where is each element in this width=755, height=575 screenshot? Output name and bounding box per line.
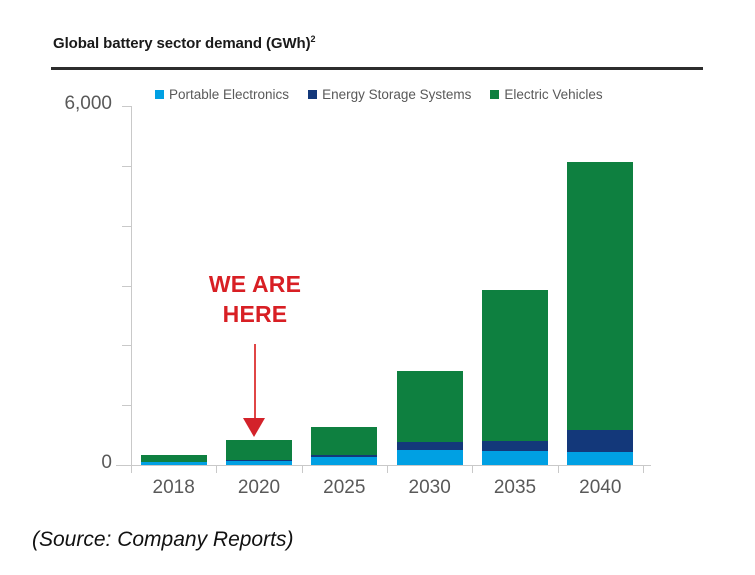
- page-title-superscript: 2: [310, 34, 315, 44]
- y-axis-minor-tick: [122, 226, 131, 227]
- bar-segment[interactable]: [311, 427, 377, 455]
- bar-segment[interactable]: [482, 290, 548, 441]
- bar-segment[interactable]: [567, 430, 633, 452]
- bar-segment[interactable]: [141, 462, 207, 465]
- bar-segment[interactable]: [482, 441, 548, 451]
- x-axis-tick-label: 2035: [472, 477, 557, 499]
- bar-segment[interactable]: [482, 451, 548, 465]
- x-axis-tick: [472, 465, 473, 473]
- y-axis-minor-tick: [122, 286, 131, 287]
- bar-segment[interactable]: [397, 450, 463, 465]
- annotation-line-2: HERE: [182, 300, 328, 330]
- we-are-here-annotation: WE ARE HERE: [182, 270, 328, 330]
- legend-item[interactable]: Energy Storage Systems: [308, 88, 471, 102]
- chart-legend: Portable ElectronicsEnergy Storage Syste…: [155, 88, 603, 102]
- bar-stack[interactable]: [311, 427, 377, 465]
- y-axis-minor-tick: [122, 405, 131, 406]
- source-note: (Source: Company Reports): [32, 528, 293, 552]
- x-axis-tick: [302, 465, 303, 473]
- x-axis-tick-label: 2040: [558, 477, 643, 499]
- bar-segment[interactable]: [397, 442, 463, 450]
- legend-swatch-icon: [155, 90, 164, 99]
- bar-stack[interactable]: [397, 371, 463, 465]
- bar-segment[interactable]: [226, 440, 292, 460]
- bar-segment[interactable]: [226, 461, 292, 465]
- x-axis-tick-label: 2030: [387, 477, 472, 499]
- legend-item[interactable]: Electric Vehicles: [490, 88, 602, 102]
- x-axis-tick: [131, 465, 132, 473]
- legend-label: Electric Vehicles: [504, 88, 602, 102]
- legend-item[interactable]: Portable Electronics: [155, 88, 289, 102]
- y-axis-major-tick: [122, 465, 131, 466]
- bar-stack[interactable]: [141, 455, 207, 465]
- x-axis-line: [116, 465, 651, 466]
- page-title-text: Global battery sector demand (GWh): [53, 35, 310, 52]
- bar-stack[interactable]: [226, 440, 292, 465]
- bar-segment[interactable]: [397, 371, 463, 442]
- x-axis-tick-label: 2018: [131, 477, 216, 499]
- x-axis-tick: [387, 465, 388, 473]
- chart-page: Global battery sector demand (GWh)2 Port…: [0, 0, 755, 575]
- x-axis-tick-label: 2025: [302, 477, 387, 499]
- y-axis-tick-label: 0: [0, 452, 112, 474]
- legend-label: Energy Storage Systems: [322, 88, 471, 102]
- y-axis-minor-tick: [122, 166, 131, 167]
- y-axis-minor-tick: [122, 345, 131, 346]
- x-axis-tick-label: 2020: [216, 477, 301, 499]
- annotation-arrow-head-icon: [243, 418, 265, 437]
- legend-label: Portable Electronics: [169, 88, 289, 102]
- page-title: Global battery sector demand (GWh)2: [53, 34, 315, 52]
- y-axis-major-tick: [122, 106, 131, 107]
- x-axis-tick: [216, 465, 217, 473]
- y-axis-tick-label: 6,000: [0, 93, 112, 115]
- bar-stack[interactable]: [482, 290, 548, 465]
- y-axis-tick-label-wrap: 6,000: [0, 93, 112, 115]
- bar-segment[interactable]: [141, 455, 207, 462]
- legend-swatch-icon: [308, 90, 317, 99]
- x-axis-tick: [558, 465, 559, 473]
- bar-segment[interactable]: [567, 452, 633, 465]
- bar-segment[interactable]: [567, 162, 633, 431]
- title-divider: [51, 67, 703, 70]
- legend-swatch-icon: [490, 90, 499, 99]
- x-axis-tick: [643, 465, 644, 473]
- annotation-arrow-shaft: [254, 344, 256, 422]
- y-axis-tick-label-wrap: 0: [0, 452, 112, 474]
- bar-segment[interactable]: [311, 457, 377, 465]
- bar-stack[interactable]: [567, 162, 633, 465]
- annotation-line-1: WE ARE: [182, 270, 328, 300]
